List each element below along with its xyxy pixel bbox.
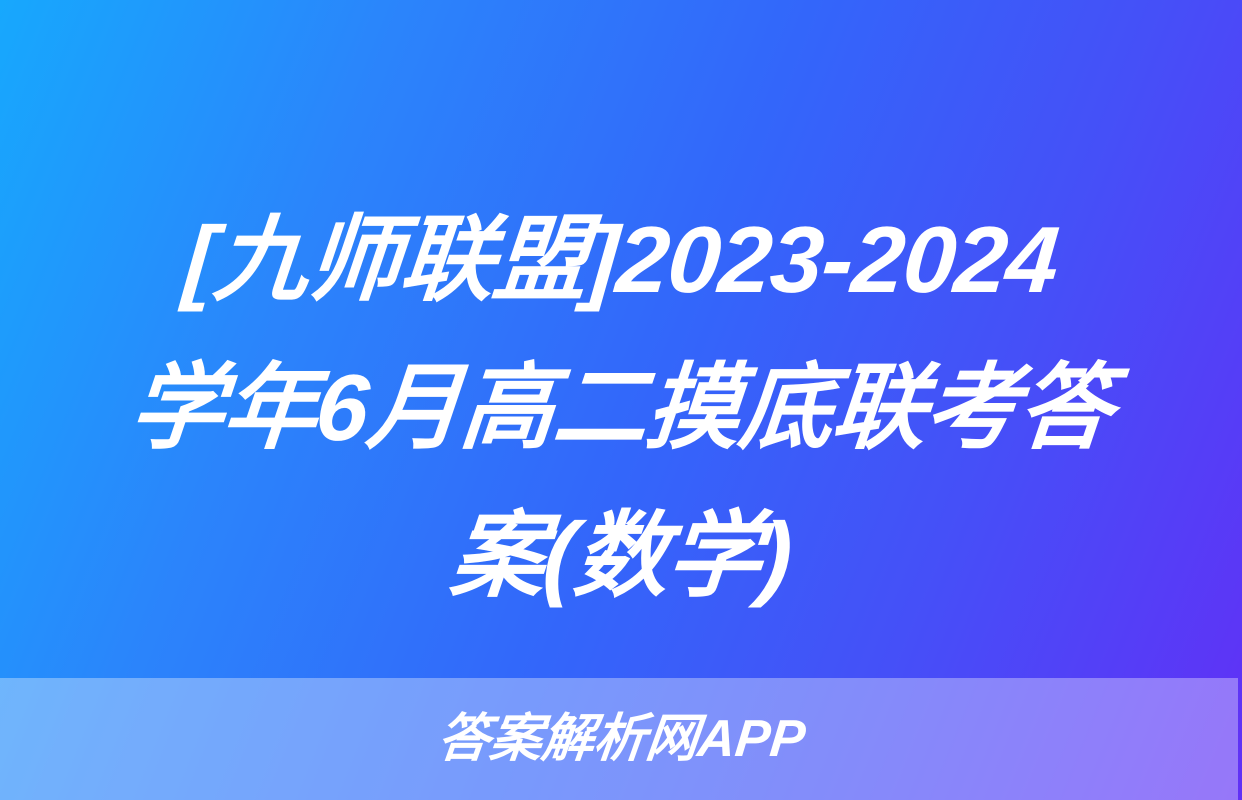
watermark: 答案解析网APP — [0, 678, 1242, 800]
title-line-1: [九师联盟]2023-2024 — [0, 186, 1242, 334]
title-line-2: 学年6月高二摸底联考答 — [0, 334, 1242, 482]
title-line-3: 案(数学) — [0, 482, 1242, 630]
watermark-label: 答案解析网APP — [435, 711, 808, 767]
promo-title-card: [九师联盟]2023-2024 学年6月高二摸底联考答 案(数学) 答案解析网A… — [0, 0, 1242, 800]
page-title: [九师联盟]2023-2024 学年6月高二摸底联考答 案(数学) — [0, 186, 1242, 630]
